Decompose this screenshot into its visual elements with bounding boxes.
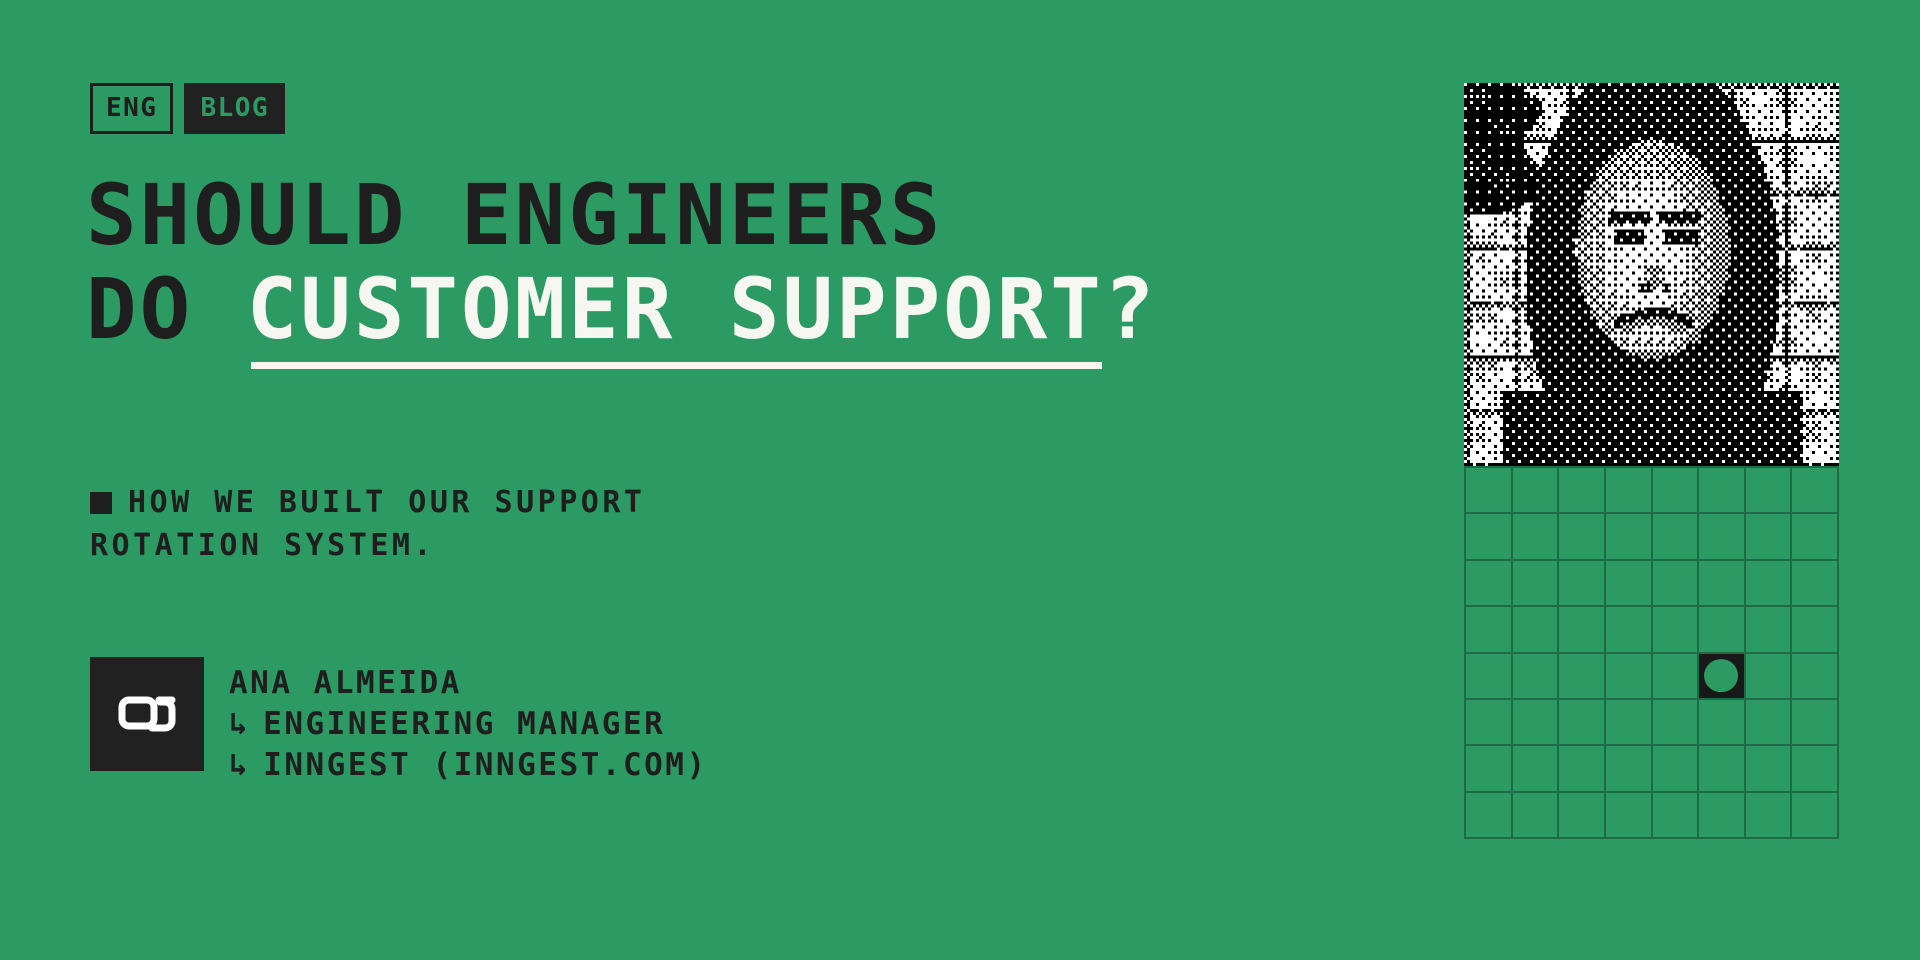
grid-cell bbox=[1699, 607, 1746, 653]
grid-cell bbox=[1466, 514, 1513, 560]
grid-cell bbox=[1606, 468, 1653, 514]
grid-cell bbox=[1653, 607, 1700, 653]
grid-cell bbox=[1559, 514, 1606, 560]
grid-cell bbox=[1653, 746, 1700, 792]
grid-cell bbox=[1746, 746, 1793, 792]
author-details: ANA ALMEIDA ↳ENGINEERING MANAGER ↳INNGES… bbox=[229, 657, 708, 787]
grid-cell bbox=[1559, 746, 1606, 792]
grid-cell bbox=[1606, 746, 1653, 792]
author-name: ANA ALMEIDA bbox=[229, 663, 708, 704]
decorative-grid bbox=[1464, 466, 1839, 839]
grid-cell bbox=[1513, 793, 1560, 839]
inngest-logo-icon bbox=[90, 657, 204, 771]
grid-cell bbox=[1792, 561, 1839, 607]
badge-blog[interactable]: BLOG bbox=[184, 83, 285, 134]
grid-cell bbox=[1653, 514, 1700, 560]
grid-cell bbox=[1606, 654, 1653, 700]
author-role: ENGINEERING MANAGER bbox=[263, 706, 665, 742]
grid-cell bbox=[1699, 793, 1746, 839]
grid-cell bbox=[1513, 514, 1560, 560]
grid-cell bbox=[1653, 700, 1700, 746]
grid-cell bbox=[1699, 468, 1746, 514]
grid-cell bbox=[1559, 700, 1606, 746]
grid-cell bbox=[1653, 561, 1700, 607]
grid-cell bbox=[1606, 793, 1653, 839]
grid-cell bbox=[1746, 561, 1793, 607]
author-company[interactable]: INNGEST (INNGEST.COM) bbox=[263, 747, 707, 783]
grid-cell bbox=[1792, 468, 1839, 514]
grid-cell bbox=[1746, 607, 1793, 653]
headline-line-2-suffix: ? bbox=[1104, 260, 1158, 358]
grid-cell bbox=[1513, 561, 1560, 607]
grid-cell bbox=[1746, 468, 1793, 514]
grid-cell bbox=[1792, 700, 1839, 746]
grid-cell bbox=[1559, 561, 1606, 607]
grid-cell bbox=[1792, 793, 1839, 839]
grid-cell bbox=[1699, 700, 1746, 746]
hero-left-column: ENG BLOG SHOULD ENGINEERS DO CUSTOMER SU… bbox=[90, 0, 1440, 960]
grid-cell bbox=[1466, 793, 1513, 839]
grid-cell bbox=[1792, 654, 1839, 700]
grid-cell bbox=[1513, 654, 1560, 700]
grid-cell bbox=[1653, 468, 1700, 514]
grid-cell bbox=[1466, 746, 1513, 792]
subtitle: HOW WE BUILT OUR SUPPORT ROTATION SYSTEM… bbox=[90, 482, 750, 567]
grid-cell bbox=[1559, 793, 1606, 839]
headline-line-2-prefix: DO bbox=[86, 260, 247, 358]
author-block: ANA ALMEIDA ↳ENGINEERING MANAGER ↳INNGES… bbox=[90, 657, 708, 787]
headline-line-2: DO CUSTOMER SUPPORT? bbox=[86, 262, 1157, 356]
grid-cell bbox=[1466, 654, 1513, 700]
grid-cell bbox=[1559, 654, 1606, 700]
page-title: SHOULD ENGINEERS DO CUSTOMER SUPPORT? bbox=[86, 168, 1157, 356]
grid-cell bbox=[1746, 793, 1793, 839]
square-bullet-icon bbox=[90, 492, 112, 514]
grid-cell bbox=[1699, 746, 1746, 792]
subtitle-text: HOW WE BUILT OUR SUPPORT ROTATION SYSTEM… bbox=[90, 485, 645, 563]
headline-highlight: CUSTOMER SUPPORT bbox=[247, 262, 1104, 356]
author-portrait-photo bbox=[1464, 83, 1839, 466]
grid-cell-marked bbox=[1699, 654, 1746, 700]
grid-cell bbox=[1606, 700, 1653, 746]
arrow-return-icon-2: ↳ bbox=[229, 745, 250, 786]
grid-cell bbox=[1792, 514, 1839, 560]
grid-cell bbox=[1513, 700, 1560, 746]
grid-cell bbox=[1746, 654, 1793, 700]
grid-cell bbox=[1559, 468, 1606, 514]
grid-cell bbox=[1513, 607, 1560, 653]
grid-cell bbox=[1606, 607, 1653, 653]
grid-cell bbox=[1746, 514, 1793, 560]
grid-cell bbox=[1513, 746, 1560, 792]
grid-cell bbox=[1699, 561, 1746, 607]
headline-line-1: SHOULD ENGINEERS bbox=[86, 168, 1157, 262]
badge-group: ENG BLOG bbox=[90, 83, 285, 134]
grid-cell bbox=[1466, 561, 1513, 607]
grid-cell bbox=[1466, 607, 1513, 653]
grid-cell bbox=[1606, 514, 1653, 560]
arrow-return-icon: ↳ bbox=[229, 704, 250, 745]
grid-cell bbox=[1559, 607, 1606, 653]
grid-cell bbox=[1653, 654, 1700, 700]
badge-eng[interactable]: ENG bbox=[90, 83, 173, 134]
grid-cell bbox=[1606, 561, 1653, 607]
hero-right-column bbox=[1464, 83, 1839, 839]
author-role-line: ↳ENGINEERING MANAGER bbox=[229, 704, 708, 745]
grid-cell bbox=[1792, 746, 1839, 792]
grid-cell bbox=[1513, 468, 1560, 514]
grid-cell bbox=[1466, 468, 1513, 514]
author-company-line: ↳INNGEST (INNGEST.COM) bbox=[229, 745, 708, 786]
grid-cell bbox=[1653, 793, 1700, 839]
grid-cell bbox=[1746, 700, 1793, 746]
grid-cell bbox=[1699, 514, 1746, 560]
portrait-canvas bbox=[1464, 83, 1839, 466]
grid-cell bbox=[1466, 700, 1513, 746]
grid-cell bbox=[1792, 607, 1839, 653]
